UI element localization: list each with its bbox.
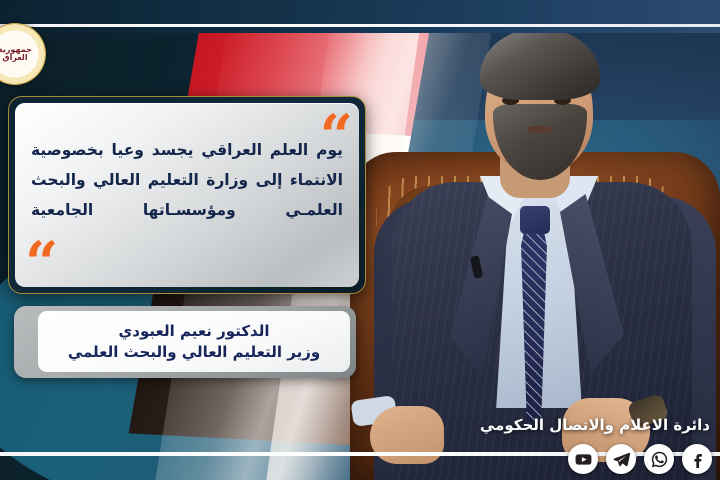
speaker-role: وزير التعليم العالي والبحث العلمي xyxy=(68,343,320,361)
mouth xyxy=(528,126,552,133)
quote-panel: “ “ يوم العلم العراقي يجسد وعيا بخصوصية … xyxy=(8,96,366,294)
telegram-icon[interactable] xyxy=(606,444,636,474)
attribution-panel: الدكتور نعيم العبودي وزير التعليم العالي… xyxy=(14,306,356,378)
whatsapp-icon[interactable] xyxy=(644,444,674,474)
top-bar-lower xyxy=(0,27,720,33)
minister-portrait xyxy=(330,0,720,480)
hair xyxy=(480,28,600,100)
top-bar-upper xyxy=(0,0,720,24)
attribution-card: الدكتور نعيم العبودي وزير التعليم العالي… xyxy=(38,311,350,372)
seal-text: جمهورية العراق xyxy=(0,23,46,85)
quote-mark-bottom-left: “ xyxy=(25,246,58,281)
social-links xyxy=(568,444,712,474)
necktie-knot xyxy=(520,206,550,234)
organization-name: دائرة الاعلام والاتصال الحكومي xyxy=(480,416,710,434)
speaker-name: الدكتور نعيم العبودي xyxy=(119,322,270,340)
quote-text: يوم العلم العراقي يجسد وعيا بخصوصية الان… xyxy=(31,135,343,226)
youtube-icon[interactable] xyxy=(568,444,598,474)
facebook-icon[interactable] xyxy=(682,444,712,474)
quote-card-graphic: الله أكبر جمهورية العراق xyxy=(0,0,720,480)
ministry-seal-logo: جمهورية العراق xyxy=(0,23,46,85)
quote-card-inner: “ “ يوم العلم العراقي يجسد وعيا بخصوصية … xyxy=(15,103,359,287)
